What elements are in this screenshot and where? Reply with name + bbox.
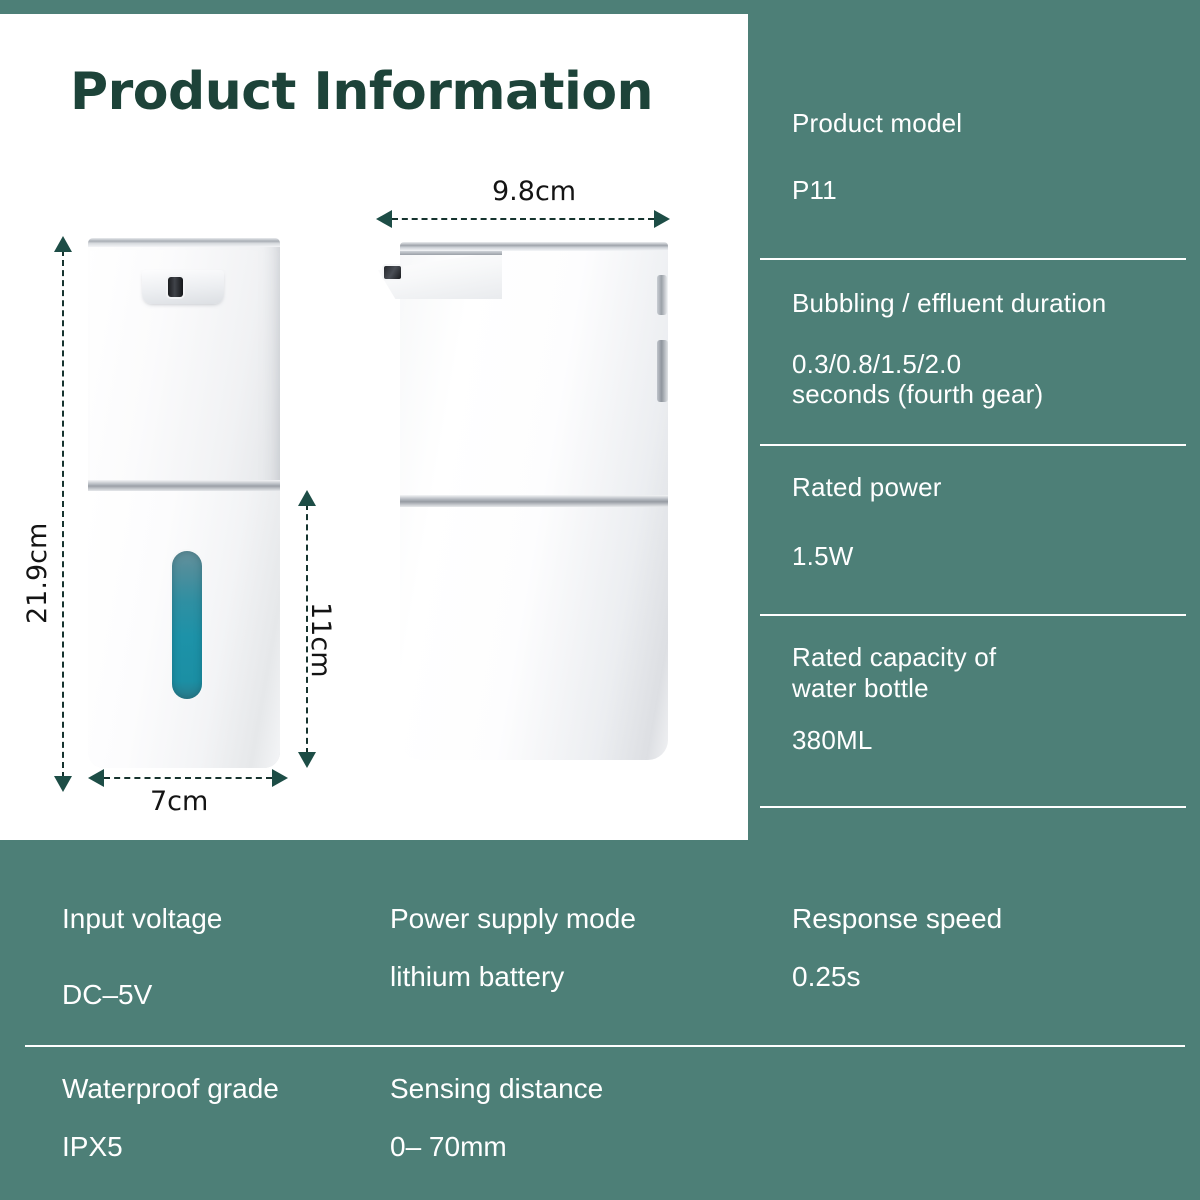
spec-value: lithium battery [390, 960, 636, 994]
width-dimension-line [104, 777, 272, 779]
height-dimension-line [62, 250, 64, 778]
spec-label: Bubbling / effluent duration [792, 288, 1184, 319]
spec-item-product-model: Product model P11 [792, 108, 1184, 205]
right-spec-panel: Product model P11 Bubbling / effluent du… [760, 0, 1200, 840]
spec-item-power-supply-mode: Power supply mode lithium battery [390, 902, 636, 993]
height-arrow-down-icon [54, 776, 72, 792]
chrome-middle-band [88, 480, 280, 491]
spec-value: IPX5 [62, 1130, 279, 1164]
side-width-dimension-line [392, 218, 654, 220]
sensor-icon [168, 277, 183, 297]
spec-item-input-voltage: Input voltage DC–5V [62, 902, 222, 1011]
spec-label: Response speed [792, 902, 1002, 936]
nozzle-housing [142, 270, 224, 304]
spec-item-rated-power: Rated power 1.5W [792, 472, 1184, 571]
spec-label: Input voltage [62, 902, 222, 936]
spec-label: Rated capacity of water bottle [792, 642, 1184, 703]
chrome-middle-band [400, 495, 668, 507]
side-view-dispenser [378, 242, 668, 760]
bottom-spec-panel: Input voltage DC–5V Power supply mode li… [0, 840, 1200, 1200]
spec-value: 0– 70mm [390, 1130, 603, 1164]
spec-item-waterproof-grade: Waterproof grade IPX5 [62, 1072, 279, 1163]
spec-label: Rated power [792, 472, 1184, 503]
spec-value: 1.5W [792, 541, 1184, 572]
spec-label: Sensing distance [390, 1072, 603, 1106]
height-arrow-up-icon [54, 236, 72, 252]
width-arrow-left-icon [88, 769, 104, 787]
mode-button [657, 340, 668, 402]
spec-label: Power supply mode [390, 902, 636, 936]
front-view-dispenser [88, 238, 280, 768]
spec-label: Product model [792, 108, 1184, 139]
width-dimension-label: 7cm [150, 786, 208, 817]
product-image-card: Product Information 21.9cm [0, 14, 748, 840]
depth-arrow-down-icon [298, 752, 316, 768]
spec-value: P11 [792, 175, 1184, 206]
spec-item-response-speed: Response speed 0.25s [792, 902, 1002, 993]
chrome-top-band [400, 242, 668, 251]
liquid-level-window [172, 551, 202, 699]
side-width-dimension-label: 9.8cm [492, 176, 576, 207]
chrome-top-band [88, 238, 280, 247]
depth-arrow-up-icon [298, 490, 316, 506]
page-title: Product Information [70, 62, 653, 122]
spec-divider [760, 258, 1186, 260]
spec-item-sensing-distance: Sensing distance 0– 70mm [390, 1072, 603, 1163]
spec-item-water-bottle-capacity: Rated capacity of water bottle 380ML [792, 642, 1184, 756]
bottom-spec-divider [25, 1045, 1185, 1047]
sensor-icon [384, 266, 401, 279]
spec-divider [760, 614, 1186, 616]
infographic-stage: Product Information 21.9cm [0, 0, 1200, 1200]
spec-divider [760, 444, 1186, 446]
side-width-arrow-right-icon [654, 210, 670, 228]
spout-chrome-trim [400, 251, 502, 255]
depth-dimension-label: 11cm [305, 602, 336, 678]
spec-value: 0.25s [792, 960, 1002, 994]
side-width-arrow-left-icon [376, 210, 392, 228]
spec-item-bubbling-duration: Bubbling / effluent duration 0.3/0.8/1.5… [792, 288, 1184, 410]
spec-divider [760, 806, 1186, 808]
height-dimension-label: 21.9cm [22, 523, 53, 624]
spec-value: 0.3/0.8/1.5/2.0 seconds (fourth gear) [792, 349, 1184, 410]
spec-label: Waterproof grade [62, 1072, 279, 1106]
width-arrow-right-icon [272, 769, 288, 787]
power-button [657, 275, 667, 315]
spec-value: DC–5V [62, 978, 222, 1012]
spec-value: 380ML [792, 725, 1184, 756]
